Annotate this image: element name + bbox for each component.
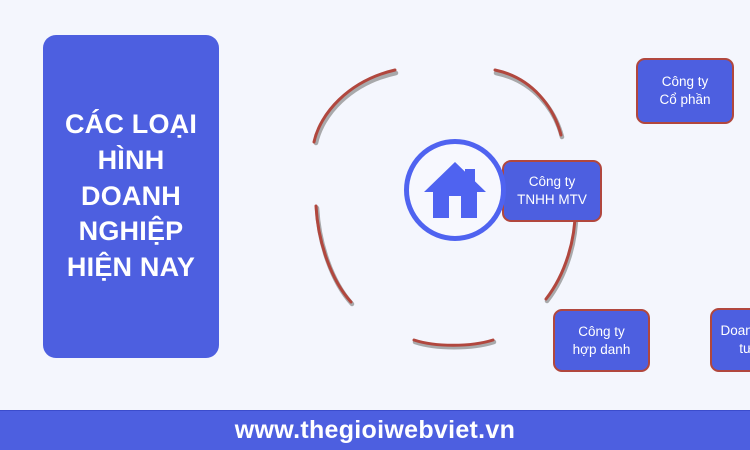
node-doanh-nghiep-tu-nhan[interactable]: Doanh nghiệp tư nhân — [710, 308, 750, 372]
node-cong-ty-hop-danh[interactable]: Công ty hợp danh — [553, 309, 650, 372]
house-icon — [423, 160, 487, 220]
node-cong-ty-co-phan[interactable]: Công ty Cổ phần — [636, 58, 734, 124]
footer-bar: www.thegioiwebviet.vn — [0, 410, 750, 450]
node-cong-ty-tnhh-mtv[interactable]: Công ty TNHH MTV — [502, 160, 602, 222]
title-card: CÁC LOẠI HÌNH DOANH NGHIỆP HIỆN NAY — [43, 35, 219, 358]
infographic-canvas: CÁC LOẠI HÌNH DOANH NGHIỆP HIỆN NAY — [0, 0, 750, 450]
website-url[interactable]: www.thegioiwebviet.vn — [235, 416, 515, 445]
center-hub — [404, 139, 506, 241]
page-title: CÁC LOẠI HÌNH DOANH NGHIỆP HIỆN NAY — [65, 107, 197, 287]
